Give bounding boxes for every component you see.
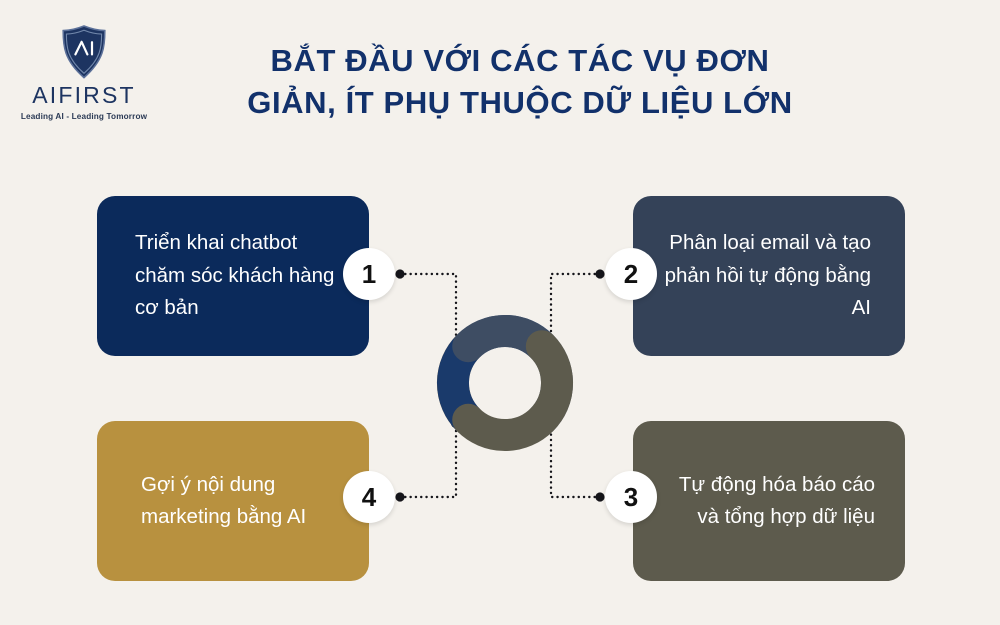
brand-logo: AIFIRST Leading AI - Leading Tomorrow xyxy=(14,24,154,121)
donut-segment-1 xyxy=(453,331,542,420)
donut-chart xyxy=(453,331,557,435)
step-badge-1[interactable]: 1 xyxy=(343,248,395,300)
donut-segment-4 xyxy=(453,346,468,420)
step-card-1[interactable]: Triển khai chatbot chăm sóc khách hàng c… xyxy=(97,196,369,356)
connector-1-end-dot xyxy=(451,340,461,350)
step-badge-4-number: 4 xyxy=(362,482,376,513)
connector-4-end-dot xyxy=(451,418,461,428)
connector-2-end-dot xyxy=(546,340,556,350)
page-title-line-1: BẮT ĐẦU VỚI CÁC TÁC VỤ ĐƠN xyxy=(210,40,830,82)
connector-3 xyxy=(551,423,600,497)
brand-tagline: Leading AI - Leading Tomorrow xyxy=(14,112,154,121)
step-card-2[interactable]: Phân loại email và tạo phản hồi tự động … xyxy=(633,196,905,356)
step-badge-1-number: 1 xyxy=(362,259,376,290)
connector-4 xyxy=(400,423,456,497)
step-badge-2-number: 2 xyxy=(624,259,638,290)
donut-segment-2 xyxy=(468,331,557,420)
step-badge-3[interactable]: 3 xyxy=(605,471,657,523)
step-card-3-label: Tự động hóa báo cáo và tổng hợp dữ liệu xyxy=(657,469,875,534)
step-card-2-label: Phân loại email và tạo phản hồi tự động … xyxy=(657,227,871,324)
step-card-3[interactable]: Tự động hóa báo cáo và tổng hợp dữ liệu xyxy=(633,421,905,581)
step-card-1-label: Triển khai chatbot chăm sóc khách hàng c… xyxy=(135,227,345,324)
connector-1 xyxy=(400,274,456,345)
page-title-line-2: GIẢN, ÍT PHỤ THUỘC DỮ LIỆU LỚN xyxy=(210,82,830,124)
connector-2-start-dot xyxy=(595,269,604,278)
connector-3-start-dot xyxy=(595,492,604,501)
shield-ai-icon xyxy=(59,24,109,80)
connector-4-start-dot xyxy=(395,492,404,501)
connector-1-start-dot xyxy=(395,269,404,278)
donut-segment-3 xyxy=(468,346,557,435)
connector-2 xyxy=(551,274,600,345)
step-badge-3-number: 3 xyxy=(624,482,638,513)
step-badge-2[interactable]: 2 xyxy=(605,248,657,300)
brand-name: AIFIRST xyxy=(14,82,154,109)
page-title: BẮT ĐẦU VỚI CÁC TÁC VỤ ĐƠN GIẢN, ÍT PHỤ … xyxy=(210,40,830,123)
infographic-canvas: AIFIRST Leading AI - Leading Tomorrow BẮ… xyxy=(0,0,1000,625)
step-card-4[interactable]: Gợi ý nội dung marketing bằng AI xyxy=(97,421,369,581)
connector-3-end-dot xyxy=(546,418,556,428)
step-badge-4[interactable]: 4 xyxy=(343,471,395,523)
step-card-4-label: Gợi ý nội dung marketing bằng AI xyxy=(141,469,345,534)
